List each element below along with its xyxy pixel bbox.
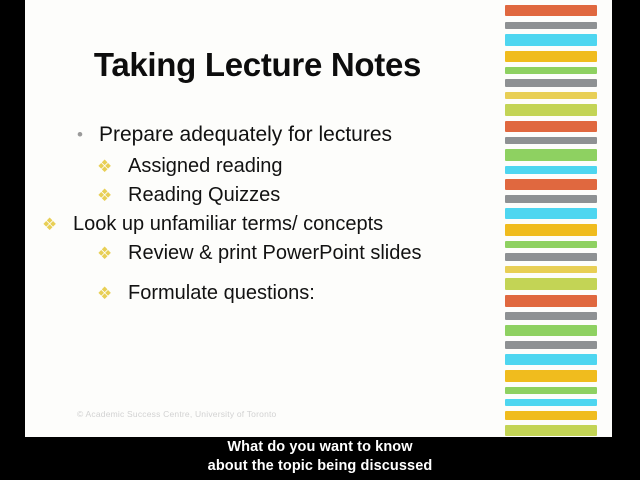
presentation-slide: Taking Lecture Notes • Prepare adequatel… <box>25 0 612 437</box>
stripe-bar <box>505 341 597 349</box>
stripe-bar <box>505 312 597 320</box>
video-player-frame: Taking Lecture Notes • Prepare adequatel… <box>0 0 640 480</box>
stripe-bar <box>505 295 597 307</box>
stripe-bar <box>505 67 597 74</box>
stripe-bar <box>505 387 597 394</box>
stripe-bar <box>505 195 597 203</box>
list-item-label: Reading Quizzes <box>128 184 280 206</box>
stripe-bar <box>505 92 597 99</box>
stripe-bar <box>505 399 597 406</box>
list-item-label: Formulate questions: <box>128 282 315 304</box>
bullet-diamond-icon: ❖ <box>97 181 112 210</box>
list-item: • Prepare adequately for lectures <box>73 120 503 150</box>
stripe-bar <box>505 104 597 116</box>
page-title: Taking Lecture Notes <box>25 46 490 84</box>
bullet-diamond-icon: ❖ <box>97 152 112 181</box>
bullet-dot-icon: • <box>77 120 83 150</box>
list-item: ❖ Review & print PowerPoint slides <box>73 239 503 268</box>
stripe-bar <box>505 224 597 236</box>
list-item-label: Assigned reading <box>128 155 283 177</box>
stripe-bar <box>505 149 597 161</box>
stripe-bar <box>505 208 597 219</box>
list-item-label: Prepare adequately for lectures <box>99 123 392 146</box>
stripe-bar <box>505 166 597 174</box>
stripe-bar <box>505 278 597 290</box>
bullet-diamond-icon: ❖ <box>97 279 112 308</box>
stripe-bar <box>505 5 597 16</box>
stripe-bar <box>505 253 597 261</box>
stripe-bar <box>505 137 597 144</box>
stripe-bar <box>505 354 597 365</box>
slide-footer-credit: © Academic Success Centre, University of… <box>77 409 276 419</box>
stripe-bar <box>505 425 597 436</box>
stripe-bar <box>505 51 597 62</box>
list-item-label: Look up unfamiliar terms/ concepts <box>73 213 383 235</box>
stripe-bar <box>505 266 597 273</box>
list-item: ❖ Look up unfamiliar terms/ concepts <box>73 210 503 239</box>
caption-line-2: about the topic being discussed <box>0 457 640 476</box>
list-item: ❖ Assigned reading <box>73 152 503 181</box>
list-item: ❖ Reading Quizzes <box>73 181 503 210</box>
list-item-label: Review & print PowerPoint slides <box>128 242 421 264</box>
stripe-bar <box>505 241 597 248</box>
stripe-bar <box>505 79 597 87</box>
stripe-bar <box>505 411 597 420</box>
caption-line-1: What do you want to know <box>0 438 640 457</box>
bullet-diamond-icon: ❖ <box>97 239 112 268</box>
video-caption: What do you want to know about the topic… <box>0 438 640 476</box>
stripe-bar <box>505 22 597 29</box>
list-item: ❖ Formulate questions: <box>73 279 503 308</box>
stripe-bar <box>505 370 597 382</box>
bullet-list: • Prepare adequately for lectures ❖ Assi… <box>73 120 503 308</box>
stripe-bar <box>505 121 597 132</box>
stripe-bar <box>505 179 597 190</box>
stripe-bar <box>505 325 597 336</box>
stripe-bar <box>505 34 597 46</box>
decorative-stripe-column <box>505 0 597 437</box>
